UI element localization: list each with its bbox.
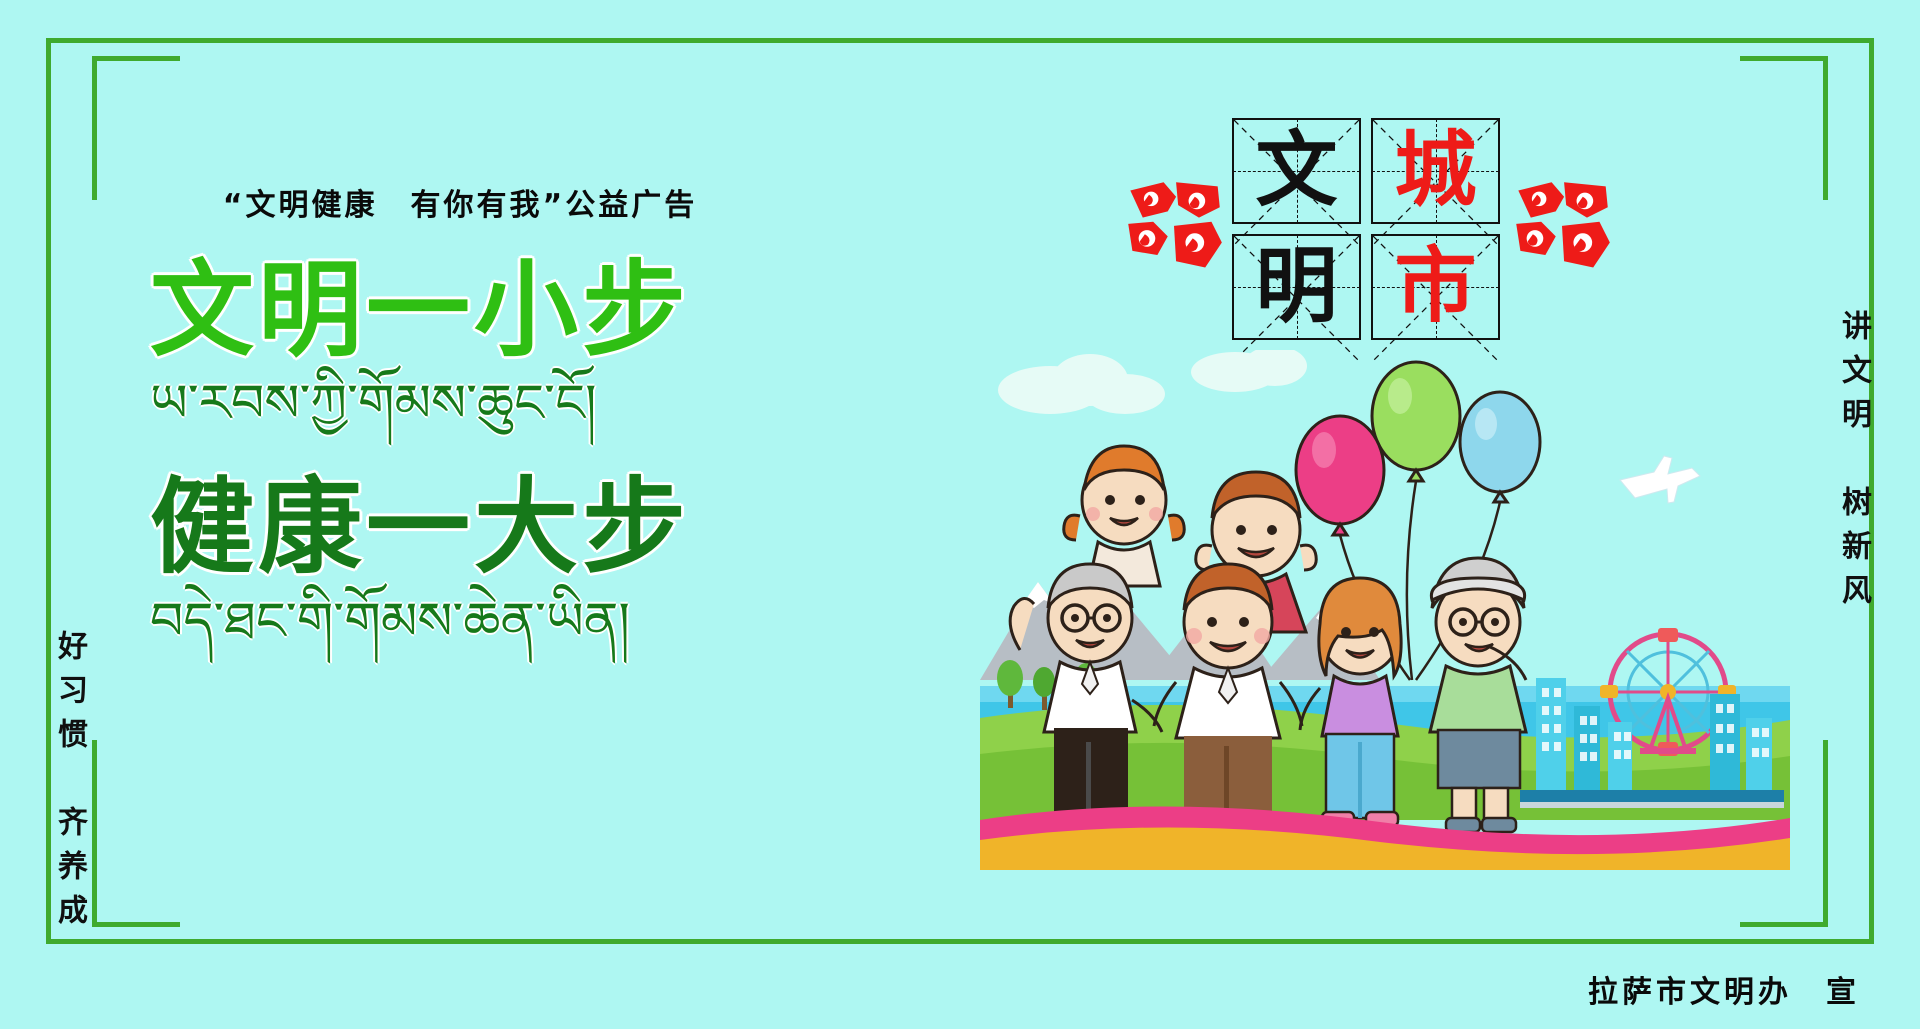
headline-line-2-chinese: 健康一大步 bbox=[150, 471, 770, 583]
seal-cell-ming: 明 bbox=[1232, 234, 1361, 340]
publisher-credit: 拉萨市文明办 宣 bbox=[1588, 967, 1860, 1011]
seal-char-3: 明 bbox=[1255, 246, 1337, 328]
seal-cell-wen: 文 bbox=[1232, 118, 1361, 224]
headline-line-2-tibetan: བདེ་ཐང་གི་གོམས་ཆེན་ཡིན། bbox=[150, 590, 770, 655]
cloud-icon bbox=[998, 354, 1165, 414]
papercut-ornament-right-icon bbox=[1510, 176, 1614, 280]
border-mask-bottom bbox=[180, 910, 1740, 936]
cloud-icon bbox=[1191, 350, 1307, 392]
campaign-tagline: “文明健康 有你有我”公益广告 bbox=[150, 180, 770, 224]
civilized-city-seal: 文 城 明 市 bbox=[1232, 118, 1500, 340]
seal-char-2: 城 bbox=[1394, 130, 1476, 212]
seal-cell-shi: 市 bbox=[1371, 234, 1500, 340]
border-mask-right bbox=[1814, 200, 1836, 740]
family-illustration bbox=[980, 350, 1790, 870]
headline-line-1-chinese: 文明一小步 bbox=[150, 254, 770, 366]
border-mask-top bbox=[180, 44, 1740, 70]
papercut-ornament-left-icon bbox=[1122, 176, 1226, 280]
poster-canvas: 好习惯 齐养成 讲文明 树新风 “文明健康 有你有我”公益广告 文明一小步 ཡ་… bbox=[0, 0, 1920, 1029]
seal-char-4: 市 bbox=[1394, 246, 1476, 328]
vertical-slogan-left: 好习惯 齐养成 bbox=[54, 630, 84, 938]
airplane-icon bbox=[1620, 456, 1700, 503]
vertical-slogan-right: 讲文明 树新风 bbox=[1838, 310, 1868, 618]
seal-cell-cheng: 城 bbox=[1371, 118, 1500, 224]
seal-char-1: 文 bbox=[1255, 130, 1337, 212]
headline-line-1-tibetan: ཡ་རབས་ཀྱི་གོམས་ཆུང་ངོ། bbox=[150, 372, 770, 437]
border-mask-left bbox=[84, 200, 106, 740]
headline-block: “文明健康 有你有我”公益广告 文明一小步 ཡ་རབས་ཀྱི་གོམས་ཆུང… bbox=[150, 180, 770, 655]
